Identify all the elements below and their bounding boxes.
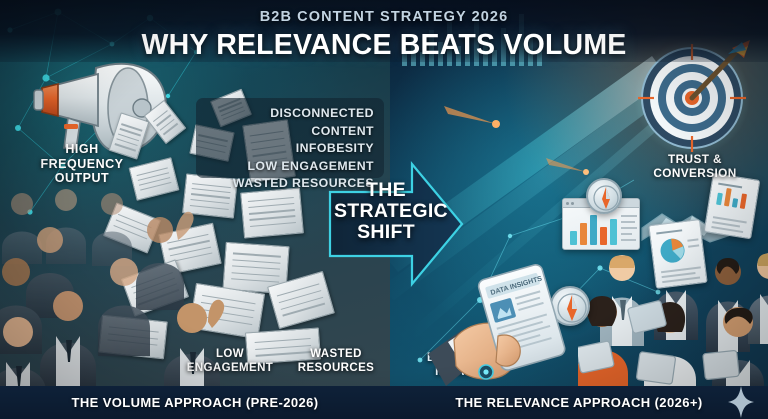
trust-conversion-label: TRUST & CONVERSION <box>636 152 754 180</box>
arrow-line-2: STRATEGIC <box>334 201 438 222</box>
compass-icon-top <box>586 178 622 214</box>
sparkle-icon <box>728 386 754 418</box>
infographic-root: DISCONNECTED CONTENT INFOBESITY LOW ENGA… <box>0 0 768 419</box>
left-caption: THE VOLUME APPROACH (PRE-2026) <box>0 395 390 410</box>
right-caption: THE RELEVANCE APPROACH (2026+) <box>390 395 768 410</box>
bottom-caption-bar: THE VOLUME APPROACH (PRE-2026) THE RELEV… <box>0 386 768 419</box>
pie-chart-icon <box>658 236 687 265</box>
page-title: WHY RELEVANCE BEATS VOLUME <box>0 29 768 62</box>
arrow-label: THE STRATEGIC SHIFT <box>334 180 438 243</box>
high-frequency-output-label: HIGH FREQUENCY OUTPUT <box>22 142 142 186</box>
arrow-line-3: SHIFT <box>334 222 438 243</box>
low-engagement-callout: LOW ENGAGEMENT <box>178 348 282 375</box>
wasted-resources-callout: WASTED RESOURCES <box>284 348 388 375</box>
title-block: B2B CONTENT STRATEGY 2026 WHY RELEVANCE … <box>0 0 768 66</box>
problem-item-1: INFOBESITY <box>204 140 374 158</box>
arrow-line-1: THE <box>334 180 438 201</box>
kicker-text: B2B CONTENT STRATEGY 2026 <box>0 9 768 25</box>
report-document-card <box>704 173 761 240</box>
problem-item-0: DISCONNECTED CONTENT <box>204 105 374 140</box>
pie-chart-document-card <box>648 219 707 289</box>
